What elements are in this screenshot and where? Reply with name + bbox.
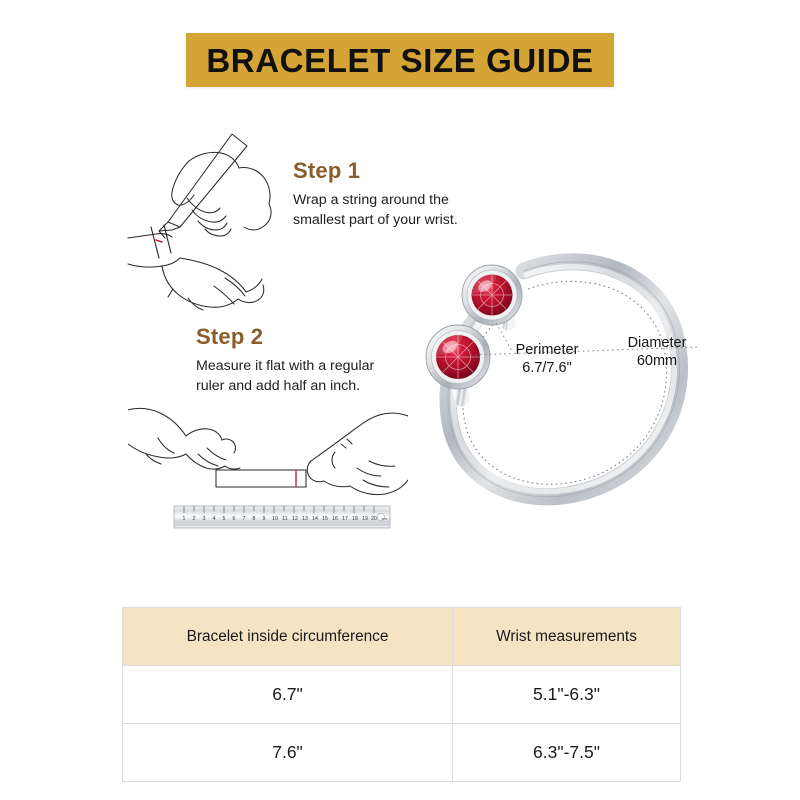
annotation-perimeter-label: Perimeter [508, 342, 586, 360]
annotation-diameter-value: 60mm [620, 353, 694, 371]
svg-text:1: 1 [183, 516, 186, 522]
svg-text:19: 19 [362, 516, 368, 522]
table-cell-circumference: 7.6" [123, 724, 453, 782]
table-cell-wrist: 6.3"-7.5" [453, 724, 681, 782]
svg-text:13: 13 [302, 516, 308, 522]
step-2-illustration: 123 456 789 101112 131415 161718 1920 cm [128, 398, 408, 548]
svg-text:15: 15 [322, 516, 328, 522]
svg-text:11: 11 [282, 516, 287, 522]
page-title: BRACELET SIZE GUIDE [206, 44, 593, 77]
gemstone-lower [426, 325, 490, 399]
table-header-row: Bracelet inside circumference Wrist meas… [123, 608, 681, 666]
table-row: 7.6" 6.3"-7.5" [123, 724, 681, 782]
table-header-circumference: Bracelet inside circumference [123, 608, 453, 666]
table-cell-wrist: 5.1"-6.3" [453, 666, 681, 724]
svg-text:2: 2 [193, 516, 196, 522]
step-1-heading: Step 1 [293, 160, 508, 182]
svg-text:6: 6 [233, 516, 236, 522]
svg-text:3: 3 [203, 516, 206, 522]
step-1-illustration [126, 126, 301, 316]
svg-text:9: 9 [263, 516, 266, 522]
table-header-wrist: Wrist measurements [453, 608, 681, 666]
size-guide-page: BRACELET SIZE GUIDE [0, 0, 800, 800]
annotation-diameter: Diameter 60mm [620, 335, 694, 370]
annotation-diameter-label: Diameter [620, 335, 694, 353]
step-2-block: Step 2 Measure it flat with a regular ru… [196, 326, 426, 396]
svg-text:cm: cm [381, 516, 387, 521]
svg-text:8: 8 [253, 516, 256, 522]
annotation-perimeter: Perimeter 6.7/7.6" [508, 342, 586, 377]
step-2-heading: Step 2 [196, 326, 426, 348]
svg-text:10: 10 [272, 516, 278, 522]
table-row: 6.7" 5.1"-6.3" [123, 666, 681, 724]
size-chart-table: Bracelet inside circumference Wrist meas… [122, 607, 681, 782]
table-cell-circumference: 6.7" [123, 666, 453, 724]
page-title-banner: BRACELET SIZE GUIDE [186, 33, 614, 87]
gemstone-upper [462, 265, 522, 325]
svg-text:16: 16 [332, 516, 338, 522]
svg-text:18: 18 [352, 516, 358, 522]
svg-text:14: 14 [312, 516, 318, 522]
ruler-illustration: 123 456 789 101112 131415 161718 1920 cm [174, 506, 390, 528]
step-2-body: Measure it flat with a regular ruler and… [196, 356, 426, 396]
svg-text:5: 5 [223, 516, 226, 522]
svg-text:12: 12 [292, 516, 298, 522]
svg-text:20: 20 [371, 516, 377, 522]
svg-text:4: 4 [213, 516, 216, 522]
svg-text:7: 7 [243, 516, 246, 522]
annotation-perimeter-value: 6.7/7.6" [508, 360, 586, 378]
svg-text:17: 17 [342, 516, 348, 522]
